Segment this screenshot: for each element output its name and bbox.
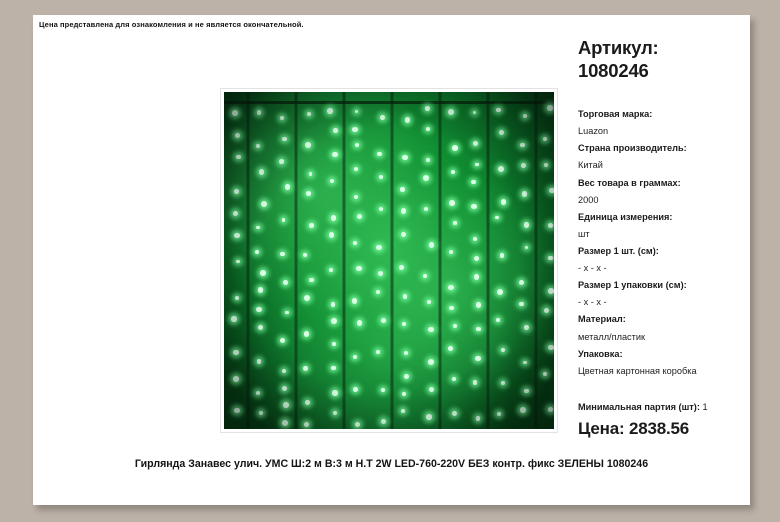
spec-label: Материал:: [578, 311, 748, 328]
min-batch-label: Минимальная партия (шт):: [578, 402, 700, 412]
product-photo: [224, 92, 554, 429]
product-page-sheet: Цена представлена для ознакомления и не …: [33, 15, 750, 505]
spec-label: Страна производитель:: [578, 140, 748, 157]
price-disclaimer: Цена представлена для ознакомления и не …: [39, 20, 304, 29]
price-value: 2838.56: [629, 419, 689, 438]
spec-value: 2000: [578, 192, 748, 209]
product-info-column: Артикул: 1080246 Торговая марка:LuazonСт…: [578, 37, 748, 439]
spec-label: Торговая марка:: [578, 106, 748, 123]
article-label: Артикул:: [578, 37, 748, 60]
min-batch-row: Минимальная партия (шт): 1: [578, 402, 748, 412]
spec-value: Luazon: [578, 123, 748, 140]
spec-label: Размер 1 упаковки (см):: [578, 277, 748, 294]
product-image-frame: [220, 88, 558, 433]
min-batch-value: 1: [702, 402, 707, 412]
spec-label: Единица измерения:: [578, 209, 748, 226]
spec-label: Размер 1 шт. (см):: [578, 243, 748, 260]
product-title-caption: Гирлянда Занавес улич. УМС Ш:2 м В:3 м Н…: [33, 458, 750, 470]
spec-label: Упаковка:: [578, 346, 748, 363]
spec-label: Вес товара в граммах:: [578, 175, 748, 192]
specification-list: Торговая марка:LuazonСтрана производител…: [578, 106, 748, 380]
spec-value: Китай: [578, 157, 748, 174]
article-heading: Артикул: 1080246: [578, 37, 748, 82]
photo-vignette: [224, 92, 554, 429]
spec-value: Цветная картонная коробка: [578, 363, 748, 380]
article-value: 1080246: [578, 60, 748, 83]
spec-value: металл/пластик: [578, 329, 748, 346]
price-label: Цена:: [578, 419, 624, 438]
spec-value: шт: [578, 226, 748, 243]
price-row: Цена: 2838.56: [578, 419, 748, 439]
spec-value: - x - x -: [578, 260, 748, 277]
spec-value: - x - x -: [578, 294, 748, 311]
